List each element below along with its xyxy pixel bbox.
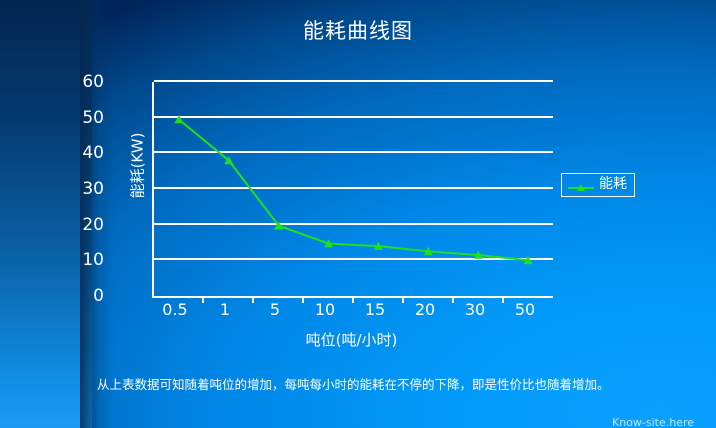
ytick-label-0: 0	[44, 288, 104, 305]
chart-x-axis-label: 吨位(吨/小时)	[152, 332, 551, 348]
legend-marker-icon	[568, 179, 594, 191]
xtick-label-5: 20	[402, 302, 448, 318]
data-point-marker	[174, 115, 183, 123]
slide-left-accent-band	[0, 0, 92, 428]
ytick-label-20: 20	[44, 217, 104, 234]
chart-legend[interactable]: 能耗	[561, 173, 635, 197]
slide-caption: 从上表数据可知随着吨位的增加，每吨每小时的能耗在不停的下降，即是性价比也随着增加…	[97, 376, 621, 393]
ytick-label-30: 30	[44, 181, 104, 198]
xtick-label-1: 1	[202, 302, 248, 318]
chart-y-axis-label: 能耗(KW)	[131, 106, 146, 226]
xtick-label-2: 5	[252, 302, 298, 318]
ytick-label-50: 50	[44, 110, 104, 127]
page-title: 能耗曲线图	[0, 18, 716, 44]
xtick-label-7: 50	[502, 302, 548, 318]
ytick-label-10: 10	[44, 252, 104, 269]
watermark-text: Know-site.here	[612, 417, 716, 428]
ytick-label-60: 60	[44, 74, 104, 91]
slide-canvas: 能耗曲线图 能耗(KW) 60 50 40	[0, 0, 716, 428]
energy-consumption-line-chart: 能耗(KW) 60 50 40 30 20	[96, 66, 566, 366]
ytick-label-40: 40	[44, 145, 104, 162]
chart-series-energy	[154, 82, 553, 296]
xtick-label-4: 15	[352, 302, 398, 318]
chart-plot-area	[152, 82, 553, 298]
legend-label-energy: 能耗	[599, 177, 627, 192]
xtick-label-6: 30	[452, 302, 498, 318]
xtick-label-0: 0.5	[152, 302, 198, 318]
xtick-label-3: 10	[302, 302, 348, 318]
